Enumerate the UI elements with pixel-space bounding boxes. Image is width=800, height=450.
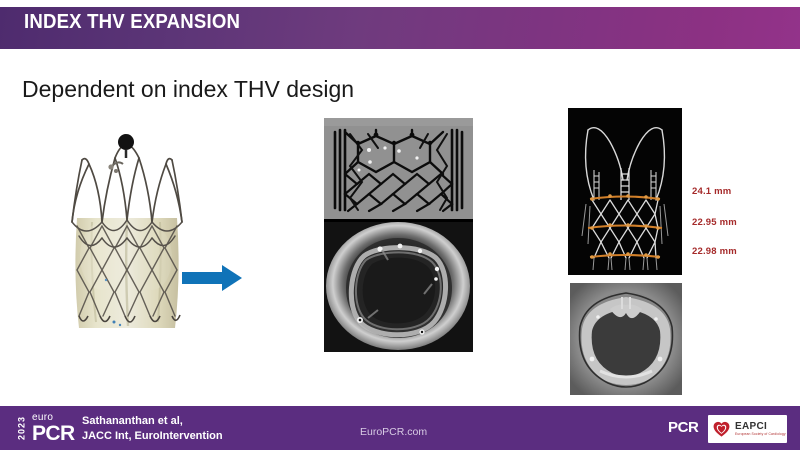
thv-3d-reconstruction-icon [568, 108, 682, 275]
pcr-logo-small: PCR [668, 419, 698, 436]
measurement-label-3: 22.98 mm [692, 246, 737, 257]
subtitle-text: Dependent on index THV design [22, 76, 354, 103]
axial-ct-figure [570, 283, 682, 395]
valve-photo-icon [62, 126, 192, 336]
logo-wordmark: euro PCR [32, 411, 75, 445]
citation: Sathananthan et al, JACC Int, EuroInterv… [82, 414, 223, 444]
eapci-subtitle: European Society of Cardiology [735, 432, 786, 437]
stent-frame-icon [324, 118, 473, 219]
logo-pcr-text: PCR [32, 423, 75, 444]
measurement-label-1: 24.1 mm [692, 186, 731, 197]
eapci-name: EAPCI [735, 421, 786, 432]
slide: INDEX THV EXPANSION Dependent on index T… [0, 0, 800, 450]
logo-euro-text: euro [32, 413, 75, 423]
measurement-label-2: 22.95 mm [692, 217, 737, 228]
flow-arrow-icon [182, 262, 244, 294]
eapci-logo: EAPCI European Society of Cardiology [708, 415, 787, 443]
page-title: INDEX THV EXPANSION [24, 11, 240, 34]
footer-url[interactable]: EuroPCR.com [360, 426, 427, 438]
logo-year: 2023 [14, 411, 29, 445]
valve-photo-figure [62, 126, 192, 336]
stent-cross-section-figure [324, 222, 473, 352]
heart-icon [712, 420, 731, 439]
citation-line-1: Sathananthan et al, [82, 414, 223, 429]
ct-cross-section-icon [324, 222, 473, 352]
ct-reconstruction-figure [568, 108, 682, 275]
europcr-logo: 2023 euro PCR [14, 411, 74, 445]
eapci-text-block: EAPCI European Society of Cardiology [735, 421, 786, 437]
stent-fluoroscopy-figure [324, 118, 473, 219]
citation-line-2: JACC Int, EuroIntervention [82, 429, 223, 444]
axial-ct-icon [570, 283, 682, 395]
